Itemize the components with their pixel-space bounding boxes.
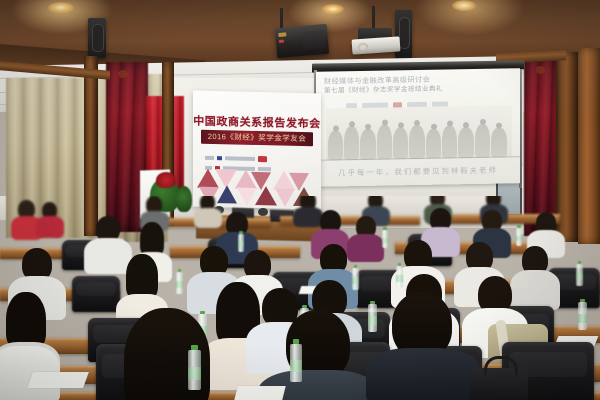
curtain-hook-left bbox=[118, 70, 128, 78]
audience-area bbox=[0, 196, 600, 400]
banner-title: 中国政商关系报告发布会 bbox=[193, 113, 321, 132]
bottle-r3-3 bbox=[396, 266, 403, 288]
banner-subtitle: 2016《财经》奖学金学友会 bbox=[201, 130, 313, 147]
slide-caption: 几乎每一年，我们都要见到林毅夫老师 bbox=[316, 164, 520, 179]
event-banner: 中国政商关系报告发布会 2016《财经》奖学金学友会 bbox=[193, 91, 321, 210]
ceiling-lamp-2 bbox=[322, 4, 344, 14]
chair-r3-1 bbox=[72, 276, 120, 312]
bottle-foreground-1 bbox=[188, 350, 201, 390]
bottle-r4-4 bbox=[578, 302, 587, 330]
paper-foreground-1 bbox=[27, 372, 89, 388]
projection-screen: 财经媒体与金融改革高级研讨会 第七届《财经》杂志奖学金班结业典礼 几乎每一年，我… bbox=[312, 62, 524, 192]
bottle-r2-3 bbox=[516, 228, 522, 246]
slide-subtitle: 第七届《财经》杂志奖学金班结业典礼 bbox=[324, 83, 514, 95]
handbag-handle bbox=[484, 356, 518, 375]
slide-logo-strip bbox=[346, 95, 496, 107]
plant-red-flowers bbox=[156, 172, 176, 188]
bottle-r2-2 bbox=[382, 230, 388, 248]
bottle-r2-1 bbox=[238, 234, 244, 252]
ceiling-lamp-3 bbox=[452, 0, 476, 11]
ceiling-lamp-1 bbox=[48, 2, 74, 13]
bottle-foreground-2 bbox=[290, 344, 302, 382]
ceiling-projector-left bbox=[275, 24, 329, 58]
conference-hall-photo: 财经媒体与金融改革高级研讨会 第七届《财经》杂志奖学金班结业典礼 几乎每一年，我… bbox=[0, 0, 600, 400]
handbag bbox=[470, 368, 528, 400]
bottle-r3-4 bbox=[576, 264, 583, 286]
banner-logo-row-1 bbox=[205, 149, 309, 159]
paper-foreground-2 bbox=[234, 386, 285, 400]
ceiling-speaker-left bbox=[88, 18, 106, 58]
screen-surface: 财经媒体与金融改革高级研讨会 第七届《财经》杂志奖学金班结业典礼 几乎每一年，我… bbox=[316, 68, 520, 187]
bottle-r3-1 bbox=[176, 272, 183, 294]
bottle-r3-2 bbox=[352, 268, 359, 290]
slide-group-photo bbox=[326, 105, 512, 160]
curtain-hook-right bbox=[536, 66, 545, 74]
banner-ribbon: 2016《财经》奖学金学友会 bbox=[201, 130, 313, 147]
bottle-r4-3 bbox=[368, 304, 377, 332]
